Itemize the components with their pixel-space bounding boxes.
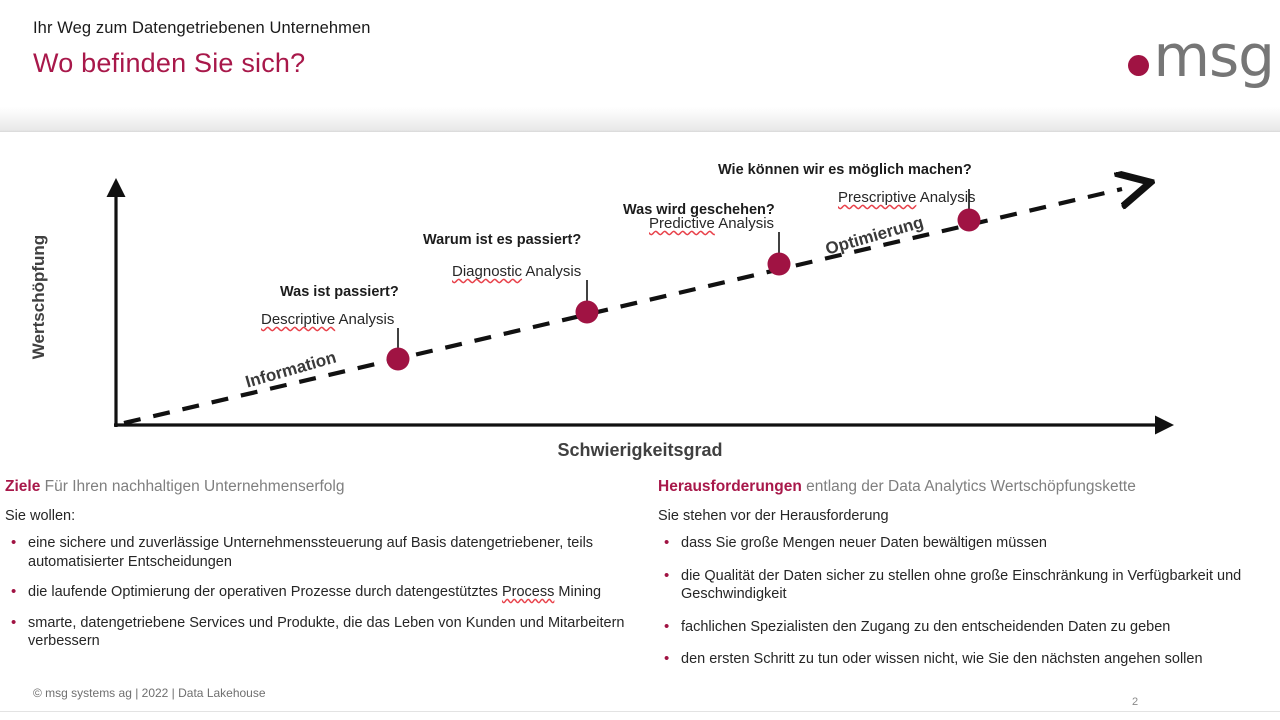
value-chain-chart: Wertschöpfung Schwierigkeitsgrad Informa…	[0, 132, 1280, 477]
list-item-text-b: Mining	[554, 584, 601, 600]
stage-name-4-suffix: Analysis	[916, 189, 975, 206]
column-herausforderungen-heading: Herausforderungen entlang der Data Analy…	[658, 478, 1258, 496]
stage-name-1-term: Descriptive	[261, 311, 335, 328]
list-item: den ersten Schritt zu tun oder wissen ni…	[658, 650, 1258, 669]
list-item: dass Sie große Mengen neuer Daten bewält…	[658, 534, 1258, 553]
logo-wordmark: msg	[1153, 27, 1274, 85]
list-item: fachlichen Spezialisten den Zugang zu de…	[658, 618, 1258, 637]
stage-question-1: Was ist passiert?	[280, 284, 399, 301]
msg-logo: msg	[1128, 28, 1274, 84]
page-title: Wo befinden Sie sich?	[33, 48, 305, 79]
header-divider-band	[0, 107, 1280, 132]
list-item: die laufende Optimierung der operativen …	[5, 583, 625, 602]
stage-name-2-suffix: Analysis	[522, 263, 581, 280]
slide-kicker: Ihr Weg zum Datengetriebenen Unternehmen	[33, 19, 371, 38]
column-ziele-bullet-list: eine sichere und zuverlässige Unternehme…	[5, 534, 625, 651]
column-ziele-heading: Ziele Für Ihren nachhaltigen Unternehmen…	[5, 478, 625, 496]
list-item-text-a: die laufende Optimierung der operativen …	[28, 584, 502, 600]
stage-marker	[958, 209, 981, 232]
footer-copyright: © msg systems ag | 2022 | Data Lakehouse	[33, 686, 266, 700]
list-item: eine sichere und zuverlässige Unternehme…	[5, 534, 625, 571]
chart-canvas	[0, 132, 1280, 477]
stage-name-2-term: Diagnostic	[452, 263, 522, 280]
column-ziele: Ziele Für Ihren nachhaltigen Unternehmen…	[5, 478, 625, 663]
stage-marker	[768, 253, 791, 276]
stage-question-4: Wie können wir es möglich machen?	[718, 162, 972, 179]
stage-name-4: Prescriptive Analysis	[838, 189, 976, 206]
stage-name-3-term: Predictive	[649, 215, 715, 232]
list-item-misspelled-term: Process	[502, 584, 554, 600]
list-item: die Qualität der Daten sicher zu stellen…	[658, 567, 1258, 604]
stage-name-3-suffix: Analysis	[715, 215, 774, 232]
list-item: smarte, datengetriebene Services und Pro…	[5, 614, 625, 651]
stage-marker	[576, 301, 599, 324]
stage-name-2: Diagnostic Analysis	[452, 263, 581, 280]
content-columns: Ziele Für Ihren nachhaltigen Unternehmen…	[0, 478, 1280, 678]
stage-question-2: Warum ist es passiert?	[423, 232, 581, 249]
column-herausforderungen-heading-rest: entlang der Data Analytics Wertschöpfung…	[802, 478, 1136, 495]
stage-name-1: Descriptive Analysis	[261, 311, 394, 328]
x-axis-title: Schwierigkeitsgrad	[0, 440, 1280, 461]
slide-header: Ihr Weg zum Datengetriebenen Unternehmen…	[0, 0, 1280, 107]
column-herausforderungen-heading-accent: Herausforderungen	[658, 478, 802, 495]
stage-name-3: Predictive Analysis	[649, 215, 774, 232]
column-herausforderungen-intro: Sie stehen vor der Herausforderung	[658, 508, 1258, 524]
footer-divider	[0, 711, 1280, 712]
stage-name-4-term: Prescriptive	[838, 189, 916, 206]
column-ziele-heading-accent: Ziele	[5, 478, 40, 495]
stage-name-1-suffix: Analysis	[335, 311, 394, 328]
page-number: 2	[1132, 696, 1138, 708]
logo-dot-icon	[1128, 55, 1149, 76]
column-ziele-intro: Sie wollen:	[5, 508, 625, 524]
column-herausforderungen-bullet-list: dass Sie große Mengen neuer Daten bewält…	[658, 534, 1258, 669]
y-axis-title: Wertschöpfung	[29, 212, 49, 382]
column-ziele-heading-rest: Für Ihren nachhaltigen Unternehmenserfol…	[40, 478, 344, 495]
column-herausforderungen: Herausforderungen entlang der Data Analy…	[658, 478, 1258, 683]
stage-marker	[387, 348, 410, 371]
